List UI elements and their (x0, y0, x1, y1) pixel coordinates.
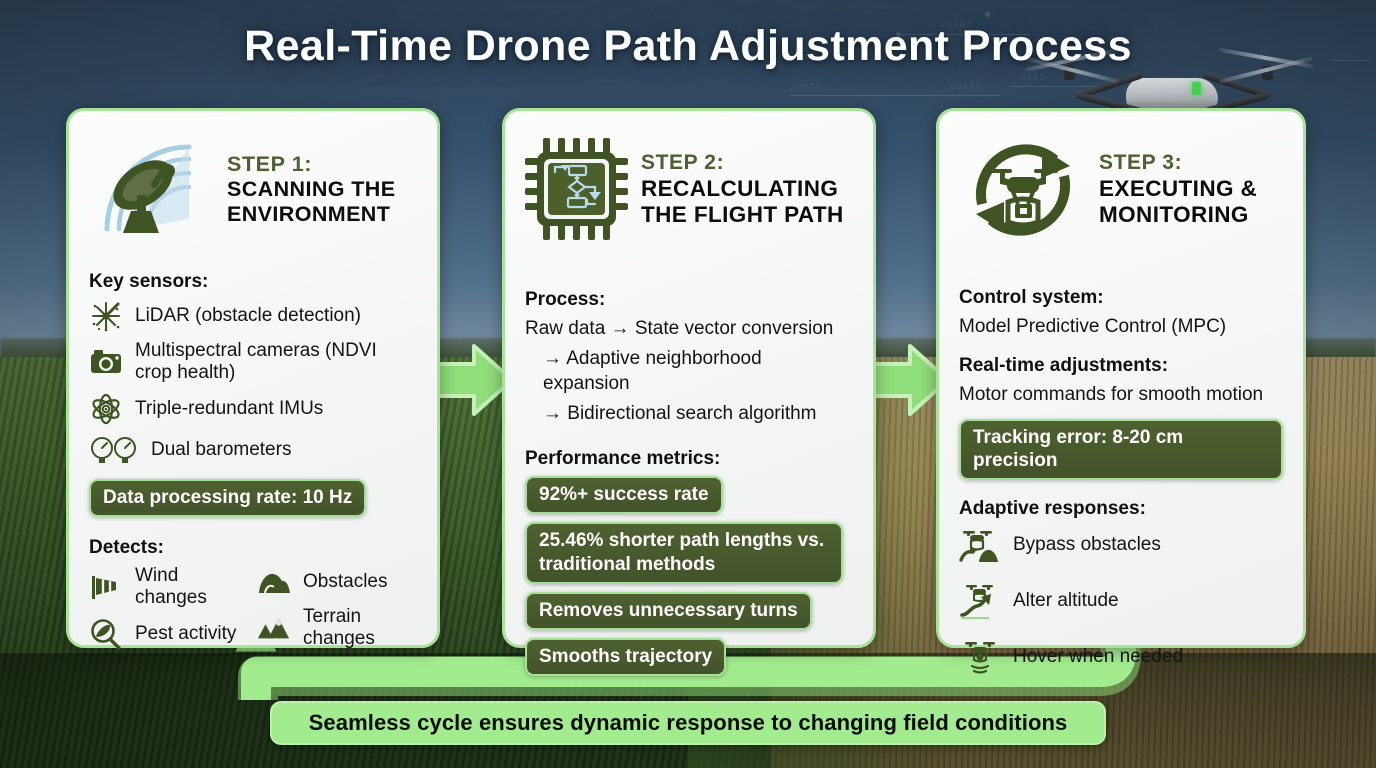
performance-metrics-label: Performance metrics: (525, 448, 853, 470)
realtime-adjust-label: Real-time adjustments: (959, 355, 1283, 377)
detect-label-terrain: Terrain changes (303, 606, 417, 651)
satellite-dish-icon (89, 133, 215, 245)
drone-hover-icon (959, 638, 1001, 676)
sensor-row-barometer: Dual barometers (89, 433, 417, 467)
sensor-row-lidar: LiDAR (obstacle detection) (89, 299, 417, 333)
tracking-error-pill: Tracking error: 8-20 cm precision (959, 419, 1283, 480)
control-system-value: Model Predictive Control (MPC) (959, 315, 1283, 339)
step-card-3[interactable]: STEP 3: EXECUTING & MONITORING Control s… (936, 108, 1306, 648)
detect-label-wind: Wind changes (135, 565, 249, 610)
step-3-kicker: STEP 3: (1099, 151, 1283, 175)
cycle-summary-banner: Seamless cycle ensures dynamic response … (270, 701, 1106, 745)
pest-magnifier-icon (89, 617, 123, 651)
sensor-label-imu: Triple-redundant IMUs (135, 398, 323, 420)
step-1-title: SCANNING THE ENVIRONMENT (227, 177, 417, 226)
step-3-title: EXECUTING & MONITORING (1099, 176, 1283, 227)
page-title: Real-Time Drone Path Adjustment Process (0, 22, 1376, 71)
step-1-kicker: STEP 1: (227, 152, 417, 177)
response-row-altitude: Alter altitude (959, 582, 1283, 620)
response-label-hover: Hover when needed (1013, 646, 1183, 668)
process-step-1: Raw data → State vector conversion (525, 317, 853, 341)
detect-row-wind: Wind changes (89, 565, 249, 610)
step-2-title: RECALCULATING THE FLIGHT PATH (641, 176, 853, 227)
drone-bypass-icon (959, 526, 1001, 564)
data-rate-pill: Data processing rate: 10 Hz (89, 479, 366, 517)
metric-pill-3: Removes unnecessary turns (525, 592, 812, 630)
step-2-kicker: STEP 2: (641, 151, 853, 175)
process-step-2: → Adaptive neighborhood expansion (543, 347, 853, 396)
barometer-icon (89, 433, 139, 467)
process-step-3: → Bidirectional search algorithm (543, 402, 853, 426)
windsock-icon (89, 570, 123, 604)
rock-obstacle-icon (257, 565, 291, 599)
sensor-label-camera: Multispectral cameras (NDVI crop health) (135, 340, 385, 385)
detect-row-terrain: Terrain changes (257, 606, 417, 651)
cycle-summary-text: Seamless cycle ensures dynamic response … (309, 710, 1068, 736)
metric-pill-4: Smooths trajectory (525, 638, 726, 676)
response-label-altitude: Alter altitude (1013, 590, 1119, 612)
cpu-flowchart-icon (525, 134, 629, 244)
metric-pill-2: 25.46% shorter path lengths vs. traditio… (525, 522, 843, 583)
lidar-burst-icon (89, 299, 123, 333)
sensor-label-barometer: Dual barometers (151, 439, 291, 461)
control-system-label: Control system: (959, 287, 1283, 309)
realtime-adjust-value: Motor commands for smooth motion (959, 383, 1283, 407)
atom-icon (89, 392, 123, 426)
response-row-hover: Hover when needed (959, 638, 1283, 676)
drone-ascend-icon (959, 582, 1001, 620)
step-2-header: STEP 2: RECALCULATING THE FLIGHT PATH (525, 129, 853, 249)
detect-label-obstacles: Obstacles (303, 571, 387, 593)
sensor-label-lidar: LiDAR (obstacle detection) (135, 305, 361, 327)
camera-icon (89, 345, 123, 379)
key-sensors-label: Key sensors: (89, 271, 417, 293)
detect-row-pest: Pest activity (89, 617, 249, 651)
detects-label: Detects: (89, 537, 417, 559)
detect-row-obstacles: Obstacles (257, 565, 417, 599)
drone-cycle-icon (959, 130, 1087, 248)
step-card-1[interactable]: STEP 1: SCANNING THE ENVIRONMENT Key sen… (66, 108, 440, 648)
response-row-bypass: Bypass obstacles (959, 526, 1283, 564)
adaptive-responses-label: Adaptive responses: (959, 498, 1283, 520)
sensor-row-camera: Multispectral cameras (NDVI crop health) (89, 340, 417, 385)
step-3-header: STEP 3: EXECUTING & MONITORING (959, 129, 1283, 249)
sensor-row-imu: Triple-redundant IMUs (89, 392, 417, 426)
response-label-bypass: Bypass obstacles (1013, 534, 1161, 556)
process-label: Process: (525, 289, 853, 311)
metric-pill-1: 92%+ success rate (525, 476, 723, 514)
mountain-icon (257, 611, 291, 645)
detect-label-pest: Pest activity (135, 623, 236, 645)
step-1-header: STEP 1: SCANNING THE ENVIRONMENT (89, 129, 417, 249)
step-card-2[interactable]: STEP 2: RECALCULATING THE FLIGHT PATH Pr… (502, 108, 876, 648)
